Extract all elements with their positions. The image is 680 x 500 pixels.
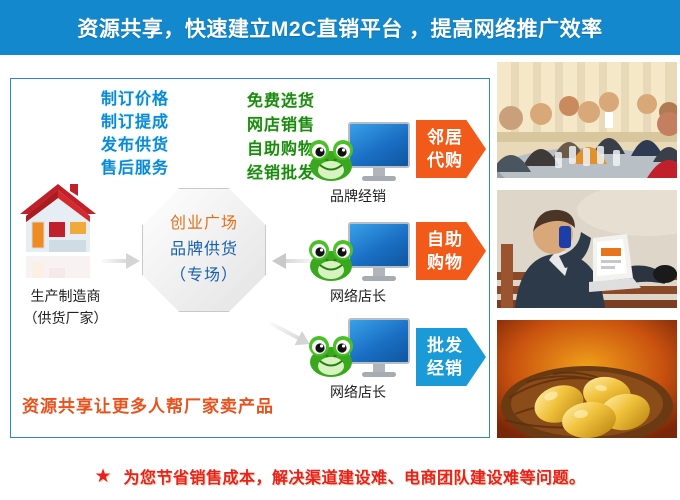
arrow-factory-to-hub: [102, 253, 140, 269]
supplier-task-list: 制订价格 制订提成 发布供货 售后服务: [85, 88, 185, 180]
page-root: 资源共享，快速建立M2C直销平台 ，提高网络推广效率 制订价格 制订提成 发布供…: [0, 0, 680, 500]
page-title: 资源共享，快速建立M2C直销平台 ，提高网络推广效率: [0, 0, 680, 55]
frog-icon: [306, 136, 356, 182]
diagram-slogan: 资源共享让更多人帮厂家卖产品: [22, 392, 274, 417]
house-icon: [18, 182, 98, 254]
banner-line2: 代购: [427, 149, 475, 172]
hub-line1: 创业广场: [170, 211, 238, 237]
hub-line3: （专场）: [170, 263, 238, 289]
business-meeting-photo: [497, 62, 677, 178]
house-reflection: [18, 252, 98, 278]
factory-label-line2: （供货厂家）: [8, 307, 123, 329]
banner-line2: 经销: [427, 357, 475, 380]
banner-line1: 自助: [427, 228, 475, 251]
node-label: 网络店长: [306, 382, 410, 402]
node-online-shopkeeper-1: 网络店长: [306, 222, 410, 306]
frog-icon: [306, 236, 356, 282]
hub-line2: 品牌供货: [170, 237, 238, 263]
supplier-task-item: 制订提成: [85, 111, 185, 134]
channel-task-item: 免费选货: [236, 90, 326, 114]
star-icon: ★: [94, 467, 111, 486]
supplier-task-item: 发布供货: [85, 134, 185, 157]
header-banner: 资源共享，快速建立M2C直销平台 ，提高网络推广效率: [0, 0, 680, 55]
footer-text: 为您节省销售成本，解决渠道建设难、电商团队建设难等问题。: [124, 464, 586, 488]
golden-eggs-nest-photo: [497, 320, 677, 438]
man-phone-laptop-photo: [497, 190, 677, 308]
banner-line2: 购物: [427, 251, 475, 274]
factory-label: 生产制造商 （供货厂家）: [8, 285, 123, 329]
supplier-task-item: 售后服务: [85, 157, 185, 180]
node-brand-dealer: 品牌经销: [306, 122, 410, 206]
frog-icon: [306, 332, 356, 378]
monitor-icon: [348, 122, 410, 184]
monitor-icon: [348, 222, 410, 284]
footer-bar: ★ 为您节省销售成本，解决渠道建设难、电商团队建设难等问题。: [0, 452, 680, 500]
factory-label-line1: 生产制造商: [8, 285, 123, 307]
supplier-task-item: 制订价格: [85, 88, 185, 111]
node-label: 品牌经销: [306, 186, 410, 206]
node-label: 网络店长: [306, 286, 410, 306]
node-online-shopkeeper-2: 网络店长: [306, 318, 410, 402]
banner-line1: 邻居: [427, 126, 475, 149]
banner-line1: 批发: [427, 334, 475, 357]
hub-octagon: 创业广场 品牌供货 （专场）: [142, 188, 266, 312]
monitor-icon: [348, 318, 410, 380]
